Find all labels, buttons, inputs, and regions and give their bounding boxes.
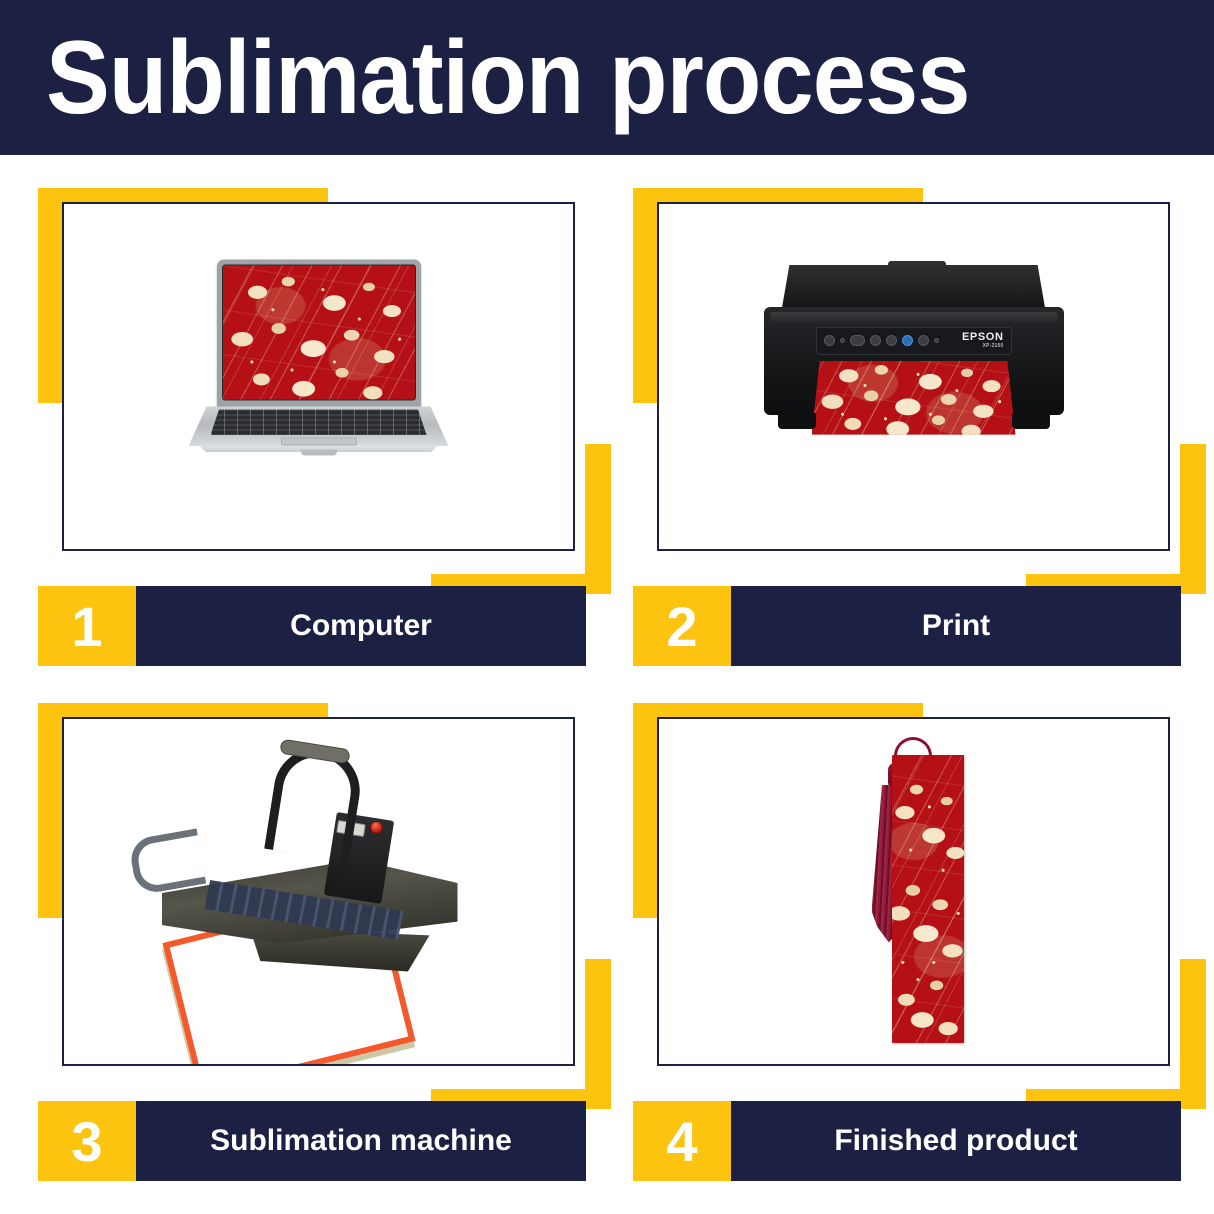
laptop bbox=[189, 259, 449, 494]
step-3-number: 3 bbox=[38, 1101, 136, 1181]
step-3-label: Sublimation machine bbox=[136, 1101, 586, 1181]
infographic-page: Sublimation process bbox=[0, 0, 1214, 1214]
laptop-trackpad bbox=[281, 437, 357, 445]
printer-illustration: EPSONXP-2100 bbox=[659, 204, 1168, 549]
printer-control-panel: EPSONXP-2100 bbox=[816, 327, 1012, 355]
step-4-label: Finished product bbox=[731, 1101, 1181, 1181]
power-button-icon[interactable] bbox=[824, 335, 835, 346]
ink-led-icon bbox=[934, 338, 939, 343]
laptop-illustration bbox=[64, 204, 573, 549]
page-title: Sublimation process bbox=[46, 26, 970, 130]
platen-pull-handle bbox=[127, 828, 206, 895]
step-1-photo-area bbox=[38, 188, 593, 568]
step-3-label-bar: 3 Sublimation machine bbox=[38, 1101, 586, 1181]
laptop-open-notch bbox=[301, 449, 337, 455]
step-4-number: 4 bbox=[633, 1101, 731, 1181]
step-2-photo-area: EPSONXP-2100 bbox=[633, 188, 1188, 568]
heat-press-illustration bbox=[64, 719, 573, 1064]
stop-button-icon[interactable] bbox=[850, 335, 865, 346]
step-1-label: Computer bbox=[136, 586, 586, 666]
printer-output-tray bbox=[812, 361, 1016, 435]
status-led-icon bbox=[840, 338, 845, 343]
step-1-photo-frame bbox=[62, 202, 575, 551]
printer-model-label: XP-2100 bbox=[962, 344, 1004, 349]
bookmark-illustration bbox=[659, 719, 1168, 1064]
printer-scanner-lid bbox=[782, 265, 1046, 311]
copy-bw-button-icon[interactable] bbox=[886, 335, 897, 346]
printer-foot-right bbox=[1012, 413, 1050, 429]
heat-press-machine bbox=[154, 742, 484, 1042]
step-3-photo-frame bbox=[62, 717, 575, 1066]
step-2-label: Print bbox=[731, 586, 1181, 666]
laptop-lid bbox=[217, 259, 421, 409]
step-4-photo-area bbox=[633, 703, 1188, 1083]
bookmark bbox=[814, 737, 1014, 1047]
step-4-label-bar: 4 Finished product bbox=[633, 1101, 1181, 1181]
step-2-number: 2 bbox=[633, 586, 731, 666]
printed-floral-sheet bbox=[812, 361, 1016, 435]
step-1-label-bar: 1 Computer bbox=[38, 586, 586, 666]
laptop-screen-floral-pattern bbox=[222, 264, 416, 400]
wifi-button-icon[interactable] bbox=[918, 335, 929, 346]
resume-button-icon[interactable] bbox=[870, 335, 881, 346]
step-3-photo-area bbox=[38, 703, 593, 1083]
printer: EPSONXP-2100 bbox=[764, 265, 1064, 475]
laptop-keyboard bbox=[211, 409, 427, 435]
step-2-photo-frame: EPSONXP-2100 bbox=[657, 202, 1170, 551]
heat-press-lever-arm bbox=[264, 741, 366, 861]
step-1-number: 1 bbox=[38, 586, 136, 666]
step-2-label-bar: 2 Print bbox=[633, 586, 1181, 666]
printer-foot-left bbox=[778, 413, 816, 429]
copy-color-button-icon[interactable] bbox=[902, 335, 913, 346]
bookmark-floral-face bbox=[892, 755, 964, 1043]
printer-brand-label: EPSONXP-2100 bbox=[962, 332, 1004, 349]
header-banner: Sublimation process bbox=[0, 0, 1214, 155]
step-4-photo-frame bbox=[657, 717, 1170, 1066]
